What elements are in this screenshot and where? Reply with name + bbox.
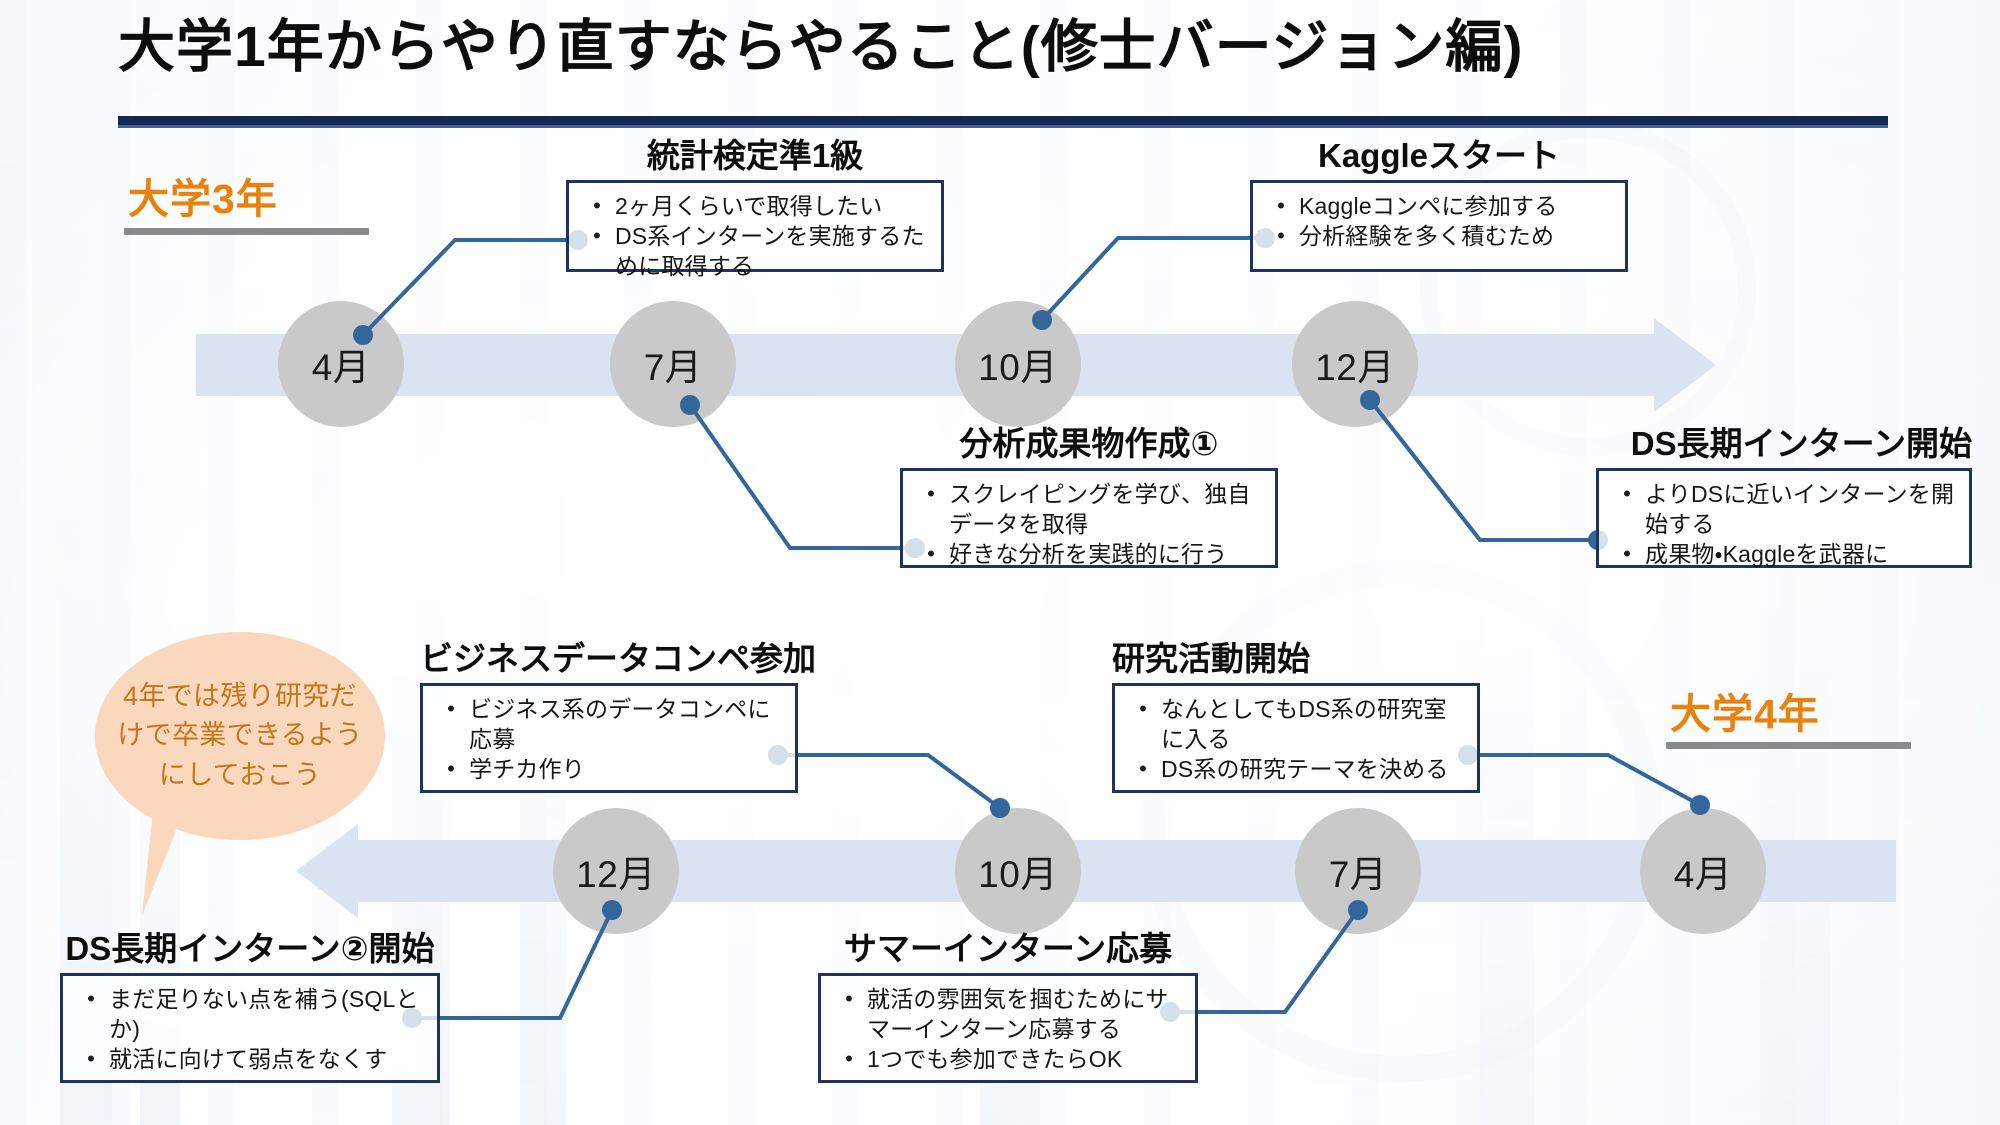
callout-title: ビジネスデータコンペ参加 xyxy=(420,640,798,678)
title-underline xyxy=(118,116,1888,125)
bullet-text: よりDSに近いインターンを開始する xyxy=(1645,480,1955,540)
year-label-3: 大学3年 xyxy=(128,165,278,225)
callout-title: 研究活動開始 xyxy=(1112,640,1480,678)
bullet-dot-icon: • xyxy=(831,1045,867,1074)
timeline-node-bottom-3[interactable]: 4月 xyxy=(1640,808,1766,934)
bullet-item: • ビジネス系のデータコンペに応募 xyxy=(433,695,781,755)
callout-title: 分析成果物作成① xyxy=(900,425,1278,463)
bullet-item: • Kaggleコンペに参加する xyxy=(1263,192,1611,222)
callout-summer: サマーインターン応募 • 就活の雰囲気を掴むためにサマーインターン応募する • … xyxy=(818,930,1198,1083)
bullet-text: 就活に向けて弱点をなくす xyxy=(109,1045,387,1075)
callout-box: • スクレイピングを学び、独自データを取得 • 好きな分析を実践的に行う xyxy=(900,468,1278,568)
arrow-head-left-icon xyxy=(296,824,358,918)
bullet-text: 1つでも参加できたらOK xyxy=(867,1045,1122,1075)
timeline-node-bottom-1[interactable]: 10月 xyxy=(955,808,1081,934)
bullet-dot-icon: • xyxy=(1263,192,1299,221)
callout-title: サマーインターン応募 xyxy=(818,930,1198,968)
year-underline-3 xyxy=(124,228,369,235)
timeline-node-bottom-0[interactable]: 12月 xyxy=(553,808,679,934)
page-title: 大学1年からやり直すならやること(修士バージョン編) xyxy=(118,16,1888,80)
bullet-text: ビジネス系のデータコンペに応募 xyxy=(469,695,781,755)
bullet-item: • 1つでも参加できたらOK xyxy=(831,1045,1181,1075)
callout-box: • Kaggleコンペに参加する • 分析経験を多く積むため xyxy=(1250,180,1628,272)
bullet-dot-icon: • xyxy=(913,540,949,569)
background-lens-circle xyxy=(1140,560,1662,1082)
bullet-dot-icon: • xyxy=(433,755,469,784)
bullet-dot-icon: • xyxy=(1609,540,1645,569)
bullet-item: • 好きな分析を実践的に行う xyxy=(913,540,1261,570)
bullet-item: • 2ヶ月くらいで取得したい xyxy=(579,192,927,222)
callout-title: DS長期インターン②開始 xyxy=(60,930,440,968)
bullet-text: 就活の雰囲気を掴むためにサマーインターン応募する xyxy=(867,985,1181,1045)
bullet-text: DS系の研究テーマを決める xyxy=(1161,755,1449,785)
bullet-item: • 成果物・Kaggleを武器に xyxy=(1609,540,1955,570)
callout-intern1: DS長期インターン開始 • よりDSに近いインターンを開始する • 成果物・Ka… xyxy=(1596,425,1972,568)
bullet-item: • 就活の雰囲気を掴むためにサマーインターン応募する xyxy=(831,985,1181,1045)
bullet-item: • 学チカ作り xyxy=(433,755,781,785)
bullet-text: 成果物・Kaggleを武器に xyxy=(1645,540,1888,570)
bullet-item: • 分析経験を多く積むため xyxy=(1263,222,1611,252)
bullet-text: 2ヶ月くらいで取得したい xyxy=(615,192,883,222)
callout-kaggle: Kaggleスタート • Kaggleコンペに参加する • 分析経験を多く積むた… xyxy=(1250,137,1628,272)
callout-intern2: DS長期インターン②開始 • まだ足りない点を補う(SQLとか) • 就活に向け… xyxy=(60,930,440,1083)
arrow-shaft xyxy=(196,334,1654,396)
timeline-node-bottom-2[interactable]: 7月 xyxy=(1295,808,1421,934)
speech-bubble-text: 4年では残り研究だけで卒業できるようにしておこう xyxy=(95,677,385,794)
callout-box: • 2ヶ月くらいで取得したい • DS系インターンを実施するために取得する xyxy=(566,180,944,272)
bullet-dot-icon: • xyxy=(1609,480,1645,509)
slide-canvas: 大学1年からやり直すならやること(修士バージョン編) 大学3年 大学4年 4月 … xyxy=(0,0,2000,1125)
timeline-node-top-3[interactable]: 12月 xyxy=(1292,301,1418,427)
arrow-head-right-icon xyxy=(1654,318,1716,412)
bullet-text: 学チカ作り xyxy=(469,755,585,785)
bullet-text: まだ足りない点を補う(SQLとか) xyxy=(109,985,423,1045)
callout-box: • 就活の雰囲気を掴むためにサマーインターン応募する • 1つでも参加できたらO… xyxy=(818,973,1198,1083)
callout-title: 統計検定準1級 xyxy=(566,137,944,175)
callout-toukei: 統計検定準1級 • 2ヶ月くらいで取得したい • DS系インターンを実施するため… xyxy=(566,137,944,272)
bullet-text: DS系インターンを実施するために取得する xyxy=(615,222,927,282)
timeline-node-top-2[interactable]: 10月 xyxy=(955,301,1081,427)
callout-box: • なんとしてもDS系の研究室に入る • DS系の研究テーマを決める xyxy=(1112,683,1480,793)
timeline-node-top-1[interactable]: 7月 xyxy=(610,301,736,427)
callout-title: Kaggleスタート xyxy=(1250,137,1628,175)
year-underline-4 xyxy=(1666,742,1911,749)
bullet-text: 分析経験を多く積むため xyxy=(1299,222,1554,252)
bullet-text: 好きな分析を実践的に行う xyxy=(949,540,1227,570)
bullet-text: なんとしてもDS系の研究室に入る xyxy=(1161,695,1463,755)
bullet-item: • よりDSに近いインターンを開始する xyxy=(1609,480,1955,540)
callout-box: • よりDSに近いインターンを開始する • 成果物・Kaggleを武器に xyxy=(1596,468,1972,568)
bullet-text: Kaggleコンペに参加する xyxy=(1299,192,1557,222)
page-title-wrap: 大学1年からやり直すならやること(修士バージョン編) xyxy=(118,16,1888,80)
bullet-item: • まだ足りない点を補う(SQLとか) xyxy=(73,985,423,1045)
speech-bubble: 4年では残り研究だけで卒業できるようにしておこう xyxy=(95,632,385,840)
bullet-item: • 就活に向けて弱点をなくす xyxy=(73,1045,423,1075)
bullet-dot-icon: • xyxy=(1125,755,1161,784)
bullet-dot-icon: • xyxy=(913,480,949,509)
bullet-dot-icon: • xyxy=(831,985,867,1014)
bullet-dot-icon: • xyxy=(433,695,469,724)
bullet-item: • DS系インターンを実施するために取得する xyxy=(579,222,927,282)
bullet-dot-icon: • xyxy=(1263,222,1299,251)
bullet-dot-icon: • xyxy=(1125,695,1161,724)
bullet-dot-icon: • xyxy=(579,192,615,221)
bullet-item: • DS系の研究テーマを決める xyxy=(1125,755,1463,785)
callout-box: • ビジネス系のデータコンペに応募 • 学チカ作り xyxy=(420,683,798,793)
callout-kenkyu: 研究活動開始 • なんとしてもDS系の研究室に入る • DS系の研究テーマを決め… xyxy=(1112,640,1480,793)
callout-business: ビジネスデータコンペ参加 • ビジネス系のデータコンペに応募 • 学チカ作り xyxy=(420,640,798,793)
callout-seikabutsu: 分析成果物作成① • スクレイピングを学び、独自データを取得 • 好きな分析を実… xyxy=(900,425,1278,568)
timeline-node-top-0[interactable]: 4月 xyxy=(278,301,404,427)
bullet-dot-icon: • xyxy=(579,222,615,251)
bullet-dot-icon: • xyxy=(73,985,109,1014)
bullet-item: • なんとしてもDS系の研究室に入る xyxy=(1125,695,1463,755)
bullet-item: • スクレイピングを学び、独自データを取得 xyxy=(913,480,1261,540)
year-label-4: 大学4年 xyxy=(1670,680,1820,740)
callout-title: DS長期インターン開始 xyxy=(1596,425,1972,463)
bullet-text: スクレイピングを学び、独自データを取得 xyxy=(949,480,1261,540)
callout-box: • まだ足りない点を補う(SQLとか) • 就活に向けて弱点をなくす xyxy=(60,973,440,1083)
bullet-dot-icon: • xyxy=(73,1045,109,1074)
